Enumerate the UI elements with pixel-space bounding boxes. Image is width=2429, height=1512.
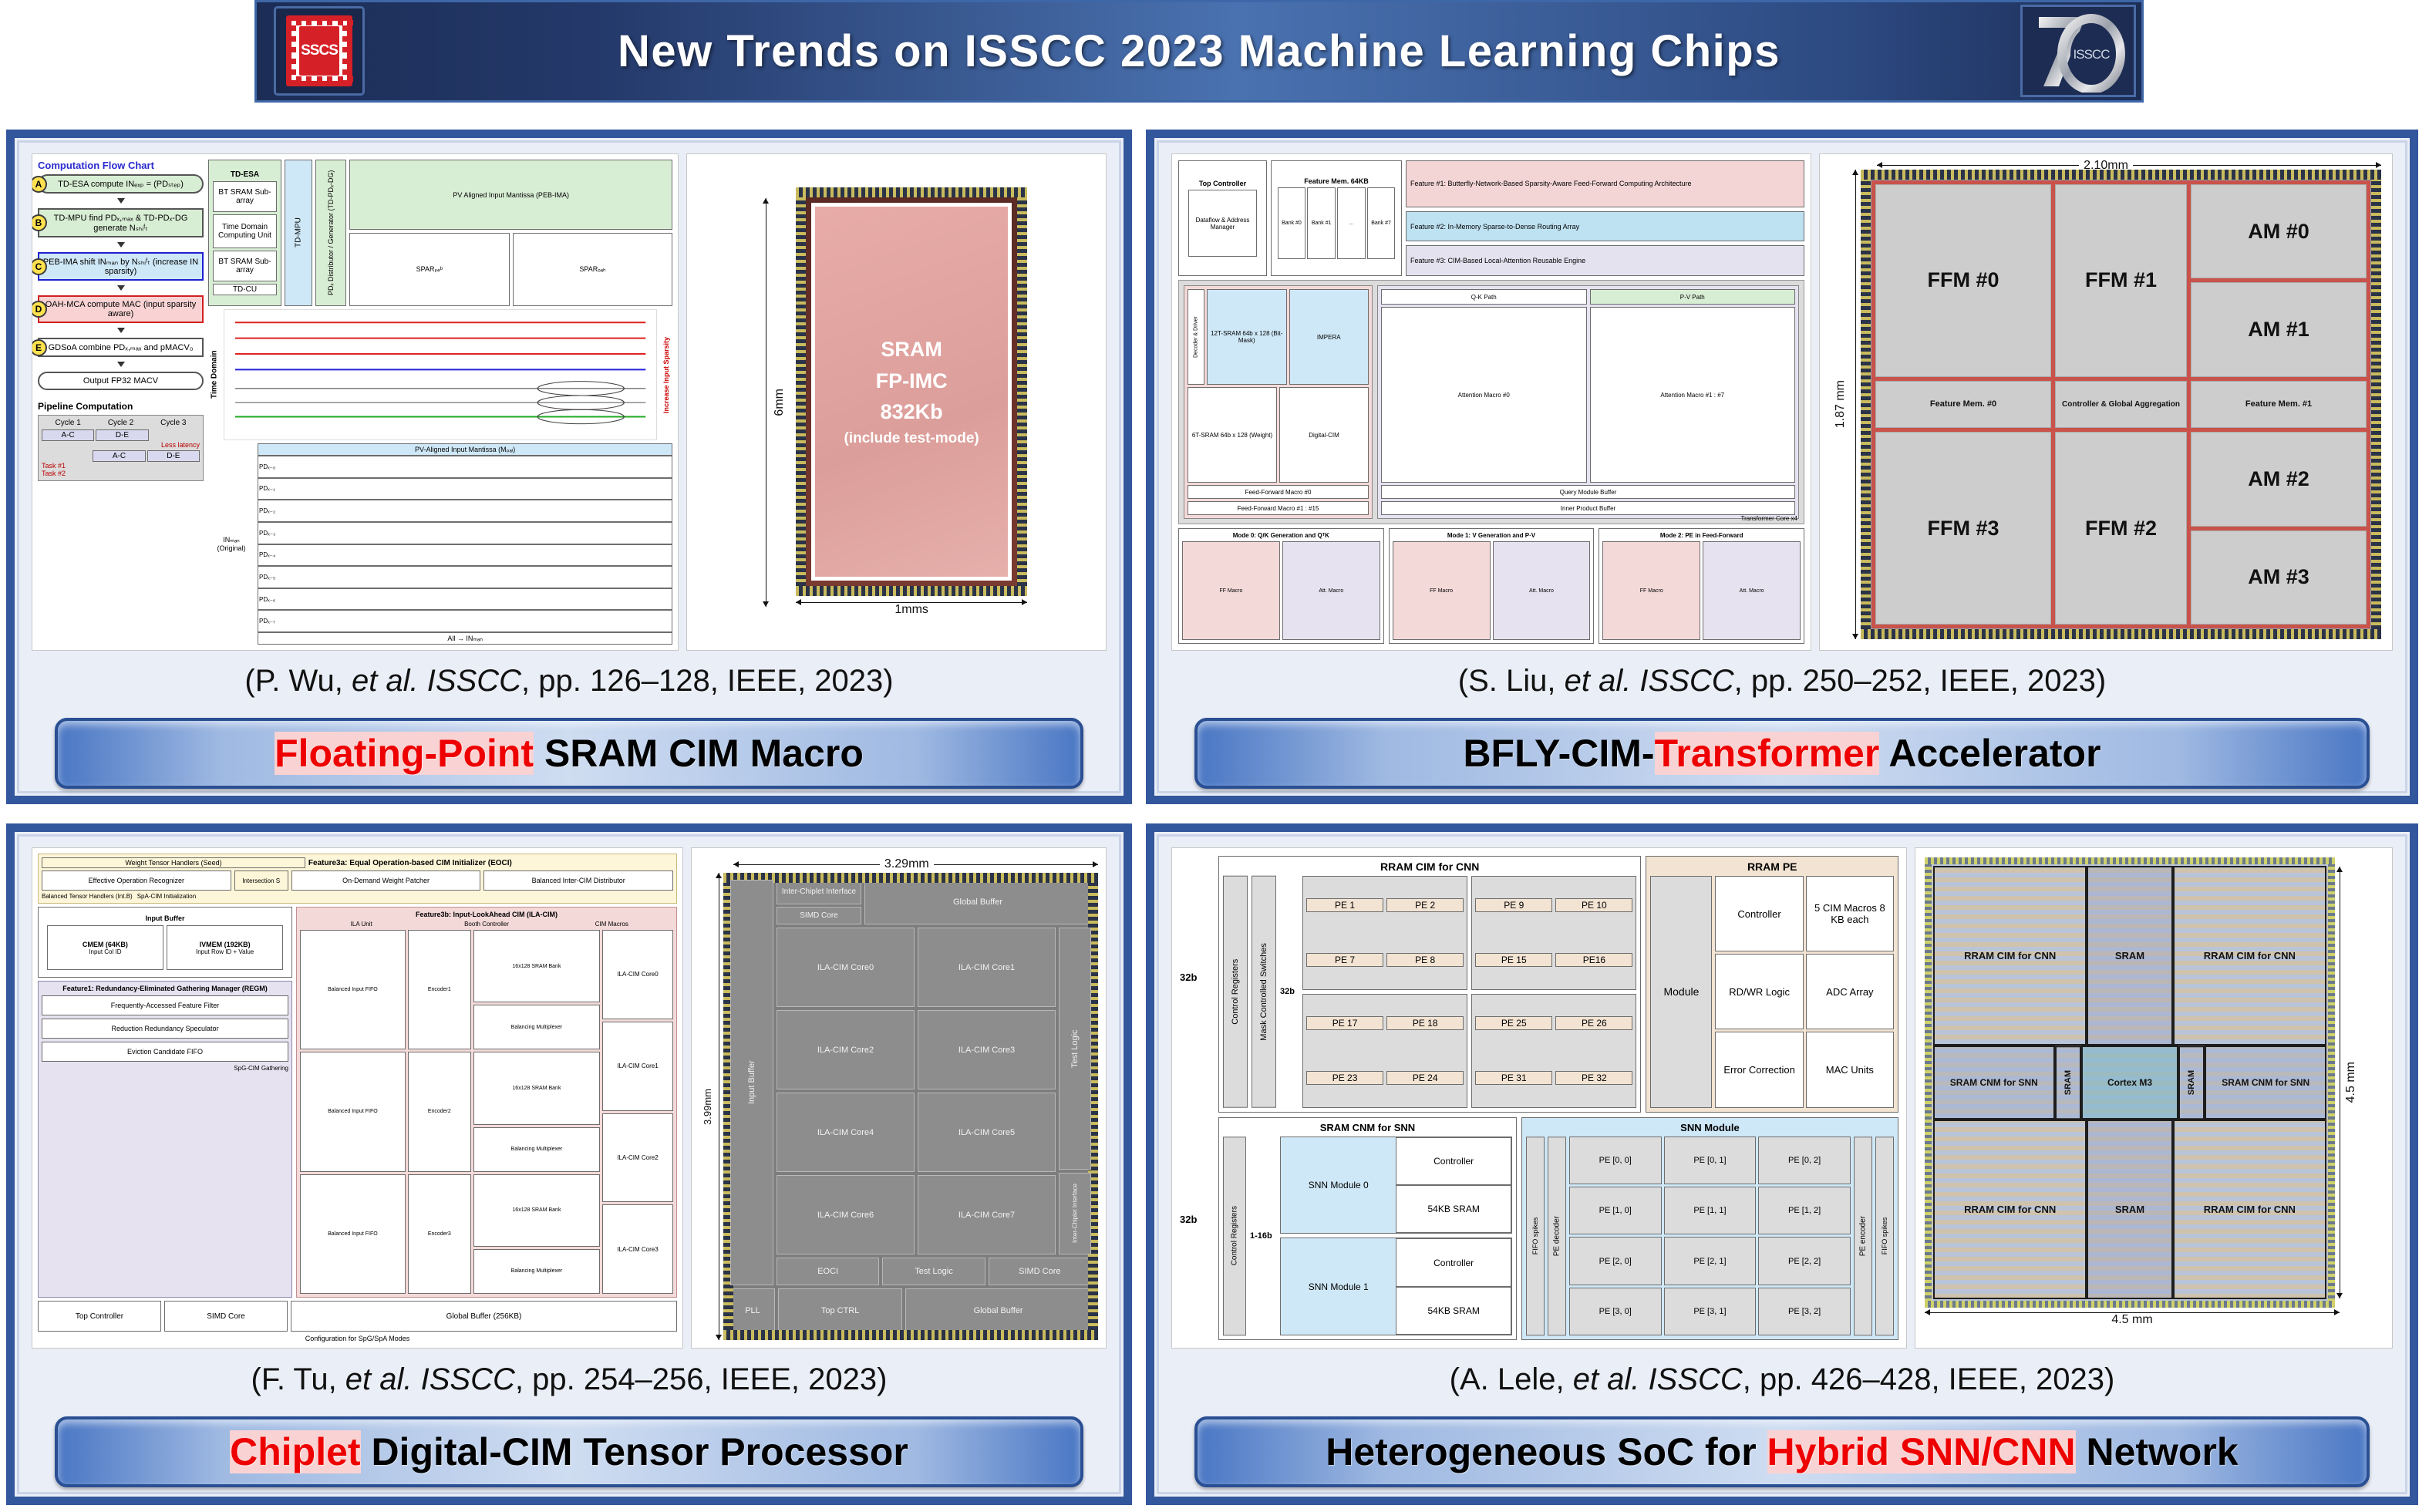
pe-cell: PE 9	[1475, 898, 1552, 912]
pipeline-cell-4: D-E	[147, 450, 200, 462]
spg-cim-gathering-label: SpG-CIM Gathering	[42, 1065, 288, 1072]
snn-pe-cell: PE [1, 0]	[1569, 1187, 1662, 1234]
mode-0-block: Mode 0: Q/K Generation and QᵀK FF Macro …	[1178, 528, 1384, 644]
feature-filter-block: Frequently-Accessed Feature Filter	[42, 995, 288, 1015]
sscs-logo-text: SSCS	[299, 26, 339, 76]
ff-macro-mode0: FF Macro	[1182, 541, 1280, 640]
die-block-rram-cim-bl: RRAM CIM for CNN	[1933, 1120, 2087, 1299]
table-row: PDₓ₋₃	[258, 522, 672, 544]
pipeline-cycle-3: Cycle 3	[160, 419, 186, 427]
feature-1-banner: Feature #1: Butterfly-Network-Based Spar…	[1406, 160, 1804, 207]
sram-bank-3: 16x128 SRAM Bank	[473, 1174, 600, 1247]
die-image: RRAM CIM for CNN SRAM RRAM CIM for CNN S…	[1925, 857, 2335, 1308]
table-row: PDₓ₋₀	[258, 456, 672, 478]
table-left-header: INₘₐₙ (Original)	[208, 443, 254, 645]
pipeline-cell-2: D-E	[96, 429, 148, 441]
soc-architecture-diagram: 32b 32b RRAM CIM for CNN Control Registe…	[1171, 847, 1907, 1349]
caption-red-part: Chiplet	[230, 1430, 360, 1473]
die-block-rram-cim-br: RRAM CIM for CNN	[2173, 1120, 2326, 1299]
pe-cell: PE 31	[1475, 1071, 1552, 1085]
die-block-input-buffer: Input Buffer	[730, 880, 773, 1285]
die-block-inter-chiplet-2: Inter-Chiplet Interface	[1059, 1173, 1091, 1254]
att-macro-mode2: Att. Macro	[1703, 541, 1801, 640]
die-height-label: 1.87 mm	[1834, 380, 1848, 428]
table-row: PDₓ₋₁	[258, 478, 672, 500]
pe-cell: PE 24	[1386, 1071, 1464, 1085]
die-height-label: 3.99mm	[702, 1089, 713, 1125]
snn-module-block: SNN Module FIFO spikes PE decoder PE [0,…	[1521, 1117, 1898, 1340]
mode-row: Mode 0: Q/K Generation and QᵀK FF Macro …	[1178, 528, 1804, 644]
feature-mem-block: Feature Mem. 64KB Bank #0 Bank #1 … Bank…	[1271, 160, 1402, 276]
regm-block: Feature1: Redundancy-Eliminated Gatherin…	[38, 981, 292, 1298]
feature-mem-label: Feature Mem. 64KB	[1304, 177, 1369, 185]
snn-pe-cell: PE [1, 1]	[1664, 1187, 1757, 1234]
page-title: New Trends on ISSCC 2023 Machine Learnin…	[618, 25, 1780, 77]
flow-step-output: Output FP32 MACV	[83, 376, 158, 386]
snn-module-0-sram: 54KB SRAM	[1396, 1185, 1511, 1233]
query-module-buffer: Query Module Buffer	[1381, 485, 1795, 499]
caption-red-part: Transformer	[1655, 732, 1880, 775]
pe-cell: PE 15	[1475, 953, 1552, 967]
caption-black-pre: Heterogeneous SoC for	[1326, 1430, 1767, 1473]
citation-top-right: (S. Liu, et al. ISSCC, pp. 250–252, IEEE…	[1159, 664, 2405, 699]
snn-module-1-controller: Controller	[1396, 1238, 1511, 1286]
flow-step-c: PEB-IMA shift INₘₐₙ by Nₛₕᵢᶠₜ (increase …	[41, 257, 200, 276]
flowchart-title: Computation Flow Chart	[38, 160, 204, 171]
table-row: PDₓ₋₆	[258, 588, 672, 611]
pipeline-cell-1: A-C	[42, 429, 94, 441]
transformer-core-block: Decoder & Driver 12T-SRAM 64b x 128 (Bit…	[1178, 280, 1804, 524]
feature-2-banner: Feature #2: In-Memory Sparse-to-Dense Ro…	[1406, 211, 1804, 242]
caption-text: Chiplet Digital-CIM Tensor Processor	[230, 1429, 908, 1474]
figure-top-left: Computation Flow Chart ATD-ESA compute I…	[32, 153, 1107, 651]
bus-label-32b-top: 32b	[1280, 876, 1299, 1108]
die-image: FFM #0 AM #0 FFM #1 AM #1 Feature Mem. #…	[1861, 170, 2381, 639]
snn-pe-cell: PE [1, 2]	[1758, 1187, 1851, 1234]
pv-path-block: Q-K Path	[1381, 289, 1587, 305]
snn-control-registers: Control Registers	[1223, 1137, 1246, 1335]
snn-pe-cell: PE [2, 2]	[1758, 1237, 1851, 1285]
panel-floating-point-sram-cim: Computation Flow Chart ATD-ESA compute I…	[6, 130, 1132, 804]
ff-macro-mode1: FF Macro	[1393, 541, 1491, 640]
attention-macro-group: Q-K Path Attention Macro #0 P-V Path Att…	[1377, 285, 1799, 519]
citation-pre: (A. Lele,	[1450, 1362, 1573, 1396]
die-block-cortex-m3: Cortex M3	[2081, 1046, 2179, 1120]
ivmem-label: IVMEM (192KB)	[200, 941, 251, 948]
die-image: SRAM FP-IMC 832Kb (include test-mode)	[796, 187, 1027, 596]
snn-pe-cell: PE [2, 1]	[1664, 1237, 1757, 1285]
caption-text: Heterogeneous SoC for Hybrid SNN/CNN Net…	[1326, 1429, 2239, 1474]
td-esa-label: TD-ESA	[231, 170, 259, 179]
rram-pe-module-label: Module	[1650, 876, 1712, 1108]
att-macro-mode0: Att. Macro	[1282, 541, 1380, 640]
ila-cim-core2: ILA-CIM Core2	[602, 1113, 673, 1203]
ila-cim-core0: ILA-CIM Core0	[602, 930, 673, 1019]
bank-7: Bank #7	[1367, 187, 1396, 259]
pipeline-chart: Cycle 1 Cycle 2 Cycle 3 A-C D-E Less lat…	[38, 415, 204, 481]
pe-cell: PE16	[1555, 953, 1632, 967]
snn-module-title: SNN Module	[1526, 1122, 1894, 1133]
td-mpu-block: TD-MPU	[285, 160, 312, 306]
bank-ellipsis: …	[1337, 187, 1366, 259]
dataflow-address-manager: Dataflow & Address Manager	[1188, 190, 1257, 258]
pipeline-cycle-1: Cycle 1	[55, 419, 80, 427]
die-label-line-3: 832Kb	[844, 396, 979, 428]
rram-cim-title: RRAM CIM for CNN	[1223, 860, 1636, 873]
pipeline-task-2: Task #2	[42, 470, 200, 477]
figure-bottom-left: Weight Tensor Handlers (Seed) Feature3a:…	[32, 847, 1107, 1349]
input-sparsity-axis-label: Increase Input Sparsity	[660, 309, 672, 440]
rram-pe-error-correction: Error Correction	[1715, 1032, 1803, 1107]
flow-step-d: OAH-MCA compute MAC (input sparsity awar…	[41, 300, 200, 318]
caption-black-part: Digital-CIM Tensor Processor	[361, 1430, 908, 1473]
bt-sram-subarray-1: BT SRAM Sub-array	[213, 251, 278, 281]
weight-tensor-handlers: Weight Tensor Handlers (Seed)	[42, 857, 305, 868]
fifo-spikes-right: FIFO spikes	[1875, 1137, 1894, 1335]
caption-banner-heterogeneous-soc[interactable]: Heterogeneous SoC for Hybrid SNN/CNN Net…	[1194, 1416, 2370, 1487]
mode-1-block: Mode 1: V Generation and P·V FF Macro At…	[1389, 528, 1595, 644]
panel-chiplet-digital-cim: Weight Tensor Handlers (Seed) Feature3a:…	[6, 823, 1132, 1505]
snn-pe-cell: PE [2, 0]	[1569, 1237, 1662, 1285]
caption-banner-floating-point[interactable]: Floating-Point SRAM CIM Macro	[55, 718, 1083, 789]
pipeline-task-1: Task #1	[42, 462, 200, 470]
die-height-label: 6mm	[773, 389, 787, 416]
global-buffer-block: Global Buffer (256KB)	[291, 1301, 677, 1332]
snn-pe-cell: PE [3, 0]	[1569, 1288, 1662, 1335]
die-height-label: 4.5 mm	[2344, 1062, 2358, 1103]
input-buffer-block: Input Buffer CMEM (64KB) Input Col ID IV…	[38, 907, 292, 978]
feature-3-banner: Feature #3: CIM-Based Local-Attention Re…	[1406, 245, 1804, 276]
caption-banner-bfly-cim[interactable]: BFLY-CIM-Transformer Accelerator	[1194, 718, 2370, 789]
snn-module-0-label: SNN Module 0	[1281, 1180, 1396, 1190]
pipeline-cycle-2: Cycle 2	[108, 419, 133, 427]
sram-bank-2: 16x128 SRAM Bank	[473, 1052, 600, 1124]
time-domain-axis-label: Time Domain	[208, 309, 221, 440]
die-block-rram-cim-tr: RRAM CIM for CNN	[2173, 866, 2326, 1046]
spar-oah-block: SPARₒₐₕ	[513, 233, 673, 306]
citation-post: , pp. 126–128, IEEE, 2023)	[521, 664, 894, 698]
die-label-line-2: FP-IMC	[844, 365, 979, 397]
mode-0-label: Mode 0: Q/K Generation and QᵀK	[1233, 532, 1329, 539]
soc-die-photo: RRAM CIM for CNN SRAM RRAM CIM for CNN S…	[1915, 847, 2393, 1349]
td-esa-block: TD-ESA BT SRAM Sub-array Time Domain Com…	[208, 160, 281, 306]
ila-cim-core1: ILA-CIM Core1	[602, 1022, 673, 1111]
fifo-spikes-left: FIFO spikes	[1526, 1137, 1545, 1335]
decoder-driver-block: Decoder & Driver	[1188, 289, 1204, 385]
feature-3a-label: Feature3a: Equal Operation-based CIM Ini…	[308, 857, 673, 868]
citation-italic: et al. ISSCC	[345, 1362, 515, 1396]
balanced-input-fifo-2: Balanced Input FIFO	[300, 1174, 406, 1294]
on-demand-weight-patcher: On-Demand Weight Patcher	[291, 870, 481, 891]
rram-pe-title: RRAM PE	[1650, 860, 1894, 873]
citation-bottom-left: (F. Tu, et al. ISSCC, pp. 254–256, IEEE,…	[19, 1362, 1119, 1397]
table-row: PDₓ₋₄	[258, 544, 672, 567]
sram-cnm-for-snn-block: SRAM CNM for SNN Control Registers 1-16b…	[1218, 1117, 1517, 1340]
encoder-2: Encoder2	[408, 1052, 471, 1171]
citation-italic: et al. ISSCC	[1573, 1362, 1743, 1396]
die-block-sram-l: SRAM	[2055, 1046, 2081, 1120]
balanced-inter-cim-distributor: Balanced Inter-CIM Distributor	[483, 870, 673, 891]
citation-pre: (S. Liu,	[1458, 664, 1565, 698]
balancing-mux-3: Balancing Multiplexer	[473, 1249, 600, 1294]
peb-ima-block: PV Aligned Input Mantissa (PEB-IMA)	[349, 160, 672, 230]
rram-pe-controller: Controller	[1715, 876, 1803, 951]
bus-label-32b-2: 32b	[1180, 1214, 1214, 1225]
fp-imc-architecture-diagram: Computation Flow Chart ATD-ESA compute I…	[32, 153, 679, 651]
bank-0: Bank #0	[1278, 187, 1306, 259]
pe-decoder: PE decoder	[1548, 1137, 1566, 1335]
citation-italic: et al. ISSCC	[352, 664, 521, 698]
pe-cell: PE 2	[1386, 898, 1464, 912]
rram-pe-cim-macros: 5 CIM Macros 8 KB each	[1806, 876, 1894, 951]
panel-bfly-cim-transformer: Top Controller Dataflow & Address Manage…	[1146, 130, 2418, 804]
svg-text:ISSCC: ISSCC	[2074, 47, 2111, 62]
pdx-distributor-block: PDₓ Distributor / Generator (TD-PDₓ-DG)	[315, 160, 346, 306]
caption-black-pre: BFLY-CIM-	[1463, 732, 1654, 775]
spar-peb-block: SPARₚₑᵇ	[349, 233, 510, 306]
booth-controller-label: Booth Controller	[425, 921, 547, 928]
snn-pe-cell: PE [3, 1]	[1664, 1288, 1757, 1335]
table-footer: All → INₘₐₙ	[258, 632, 672, 645]
pe-cell: PE 23	[1306, 1071, 1383, 1085]
caption-text: Floating-Point SRAM CIM Macro	[275, 731, 864, 776]
pe-cell: PE 8	[1386, 953, 1464, 967]
top-controller-label: Top Controller	[1199, 180, 1246, 187]
citation-post: , pp. 426–428, IEEE, 2023)	[1743, 1362, 2115, 1396]
top-controller-block: Top Controller	[38, 1301, 161, 1332]
12t-sram-block: 12T-SRAM 64b x 128 (Bit-Mask)	[1207, 289, 1287, 385]
die-block-rram-cim-tl: RRAM CIM for CNN	[1933, 866, 2087, 1046]
citation-pre: (F. Tu,	[251, 1362, 345, 1396]
bt-sram-subarray-0: BT SRAM Sub-array	[213, 181, 278, 212]
ff-macro-0-label: Feed-Forward Macro #0	[1188, 485, 1369, 499]
die-width-label: 3.29mm	[880, 857, 934, 871]
rram-pe-adc-array: ADC Array	[1806, 954, 1894, 1029]
pipeline-latency-label: Less latency	[42, 441, 200, 449]
pe-cell: PE 18	[1386, 1016, 1464, 1030]
effective-op-recognizer: Effective Operation Recognizer	[42, 870, 231, 891]
pipeline-title: Pipeline Computation	[38, 401, 204, 412]
timing-waveform-area: Time Domain	[208, 309, 672, 440]
ivmem-sub: Input Row ID + Value	[196, 948, 254, 955]
attention-macro-1: Attention Macro #1 : #7	[1590, 307, 1796, 483]
isscc-70th-anniversary-logo: ISSCC	[2020, 5, 2136, 97]
flow-step-b: TD-MPU find PDₓ,ₘₐₓ & TD-PDₓ-DG generate…	[41, 213, 200, 233]
caption-red-part: Hybrid SNN/CNN	[1767, 1430, 2076, 1473]
pipeline-cell-3: A-C	[93, 450, 145, 462]
bottom-blocks-row: Top Controller SIMD Core Global Buffer (…	[38, 1301, 677, 1332]
mask-controlled-switches-block: Mask Controlled Switches	[1252, 876, 1276, 1108]
cmem-sub: Input Col ID	[89, 948, 121, 955]
ff-macro-mode2: FF Macro	[1602, 541, 1700, 640]
poster-root: New Trends on ISSCC 2023 Machine Learnin…	[0, 0, 2429, 1512]
snn-module-0-controller: Controller	[1396, 1137, 1511, 1185]
table-row: PDₓ₋₇	[258, 610, 672, 632]
att-macro-mode1: Att. Macro	[1493, 541, 1591, 640]
table-row: PDₓ₋₂	[258, 500, 672, 522]
encoder-3: Encoder3	[408, 1174, 471, 1294]
sram-bank-1: 16x128 SRAM Bank	[473, 930, 600, 1002]
attention-macro-0: Attention Macro #0	[1381, 307, 1587, 483]
time-domain-compute-unit: Time Domain Computing Unit	[213, 214, 278, 248]
pe-cell: PE 26	[1555, 1016, 1632, 1030]
table-header: PV-Aligned Input Mantissa (Mₚₐₗ)	[258, 443, 672, 456]
feed-forward-macro-group: Decoder & Driver 12T-SRAM 64b x 128 (Bit…	[1184, 285, 1373, 519]
pe-cell: PE 17	[1306, 1016, 1383, 1030]
snn-pe-cell: PE [0, 2]	[1758, 1137, 1851, 1184]
die-block-test-logic: Test Logic	[1059, 928, 1091, 1170]
digital-cim-block: Digital-CIM	[1279, 387, 1369, 483]
td-cu-block: TD-CU	[213, 284, 278, 295]
ila-cim-core3: ILA-CIM Core3	[602, 1204, 673, 1294]
snn-module-1-label: SNN Module 1	[1281, 1281, 1396, 1292]
rram-pe-block: RRAM PE Module Controller 5 CIM Macros 8…	[1646, 856, 1898, 1113]
bfly-cim-architecture-diagram: Top Controller Dataflow & Address Manage…	[1171, 153, 1811, 651]
inner-product-buffer: Inner Product Buffer	[1381, 501, 1795, 515]
poster-header: New Trends on ISSCC 2023 Machine Learnin…	[254, 0, 2144, 103]
ila-unit-label: ILA Unit	[300, 921, 423, 928]
snn-module-1-sram: 54KB SRAM	[1396, 1287, 1511, 1335]
ila-cim-block: Feature3b: Input-LookAhead CIM (ILA-CIM)…	[296, 907, 677, 1298]
citation-post: , pp. 250–252, IEEE, 2023)	[1734, 664, 2107, 698]
die-block-sram-cnm-right: SRAM CNM for SNN	[2205, 1046, 2326, 1120]
rram-pe-rdwr-logic: RD/WR Logic	[1715, 954, 1803, 1029]
die-label-line-4: (include test-mode)	[844, 428, 979, 450]
snn-pe-cell: PE [0, 0]	[1569, 1137, 1662, 1184]
eviction-fifo-block: Eviction Candidate FIFO	[42, 1042, 288, 1062]
intersection-block: Intersection S	[234, 870, 288, 891]
eoci-region: Weight Tensor Handlers (Seed) Feature3a:…	[38, 854, 677, 904]
figure-top-right: Top Controller Dataflow & Address Manage…	[1171, 153, 2393, 651]
bus-label-1-16b: 1-16b	[1250, 1137, 1276, 1335]
die-width-label: 4.5 mm	[2111, 1313, 2152, 1327]
die-block-sram-bot: SRAM	[2087, 1120, 2172, 1299]
pe-encoder: PE encoder	[1854, 1137, 1872, 1335]
control-registers-block: Control Registers	[1223, 876, 1248, 1108]
sscs-society-logo: SSCS	[274, 6, 365, 96]
balancing-mux-1: Balancing Multiplexer	[473, 1005, 600, 1049]
6t-sram-block: 6T-SRAM 64b x 128 (Weight)	[1188, 387, 1277, 483]
caption-black-part: SRAM CIM Macro	[534, 732, 864, 775]
pv-aligned-mantissa-table: INₘₐₙ (Original) PV-Aligned Input Mantis…	[208, 443, 672, 645]
balanced-input-fifo-1: Balanced Input FIFO	[300, 1052, 406, 1171]
die-block-sram-cnm-left: SRAM CNM for SNN	[1933, 1046, 2055, 1120]
bank-1: Bank #1	[1307, 187, 1336, 259]
pe-cell: PE 32	[1555, 1071, 1632, 1085]
citation-italic: et al. ISSCC	[1565, 664, 1734, 698]
encoder-1: Encoder1	[408, 930, 471, 1049]
mode-2-label: Mode 2: PE in Feed-Forward	[1660, 532, 1743, 539]
flow-step-a: TD-ESA compute INₑₓₚ = (PDₛₜₑₚ)	[58, 179, 184, 189]
pe-cell: PE 7	[1306, 953, 1383, 967]
seventy-icon: ISSCC	[2028, 9, 2128, 93]
figure-footer-label: Configuration for SpG/SpA Modes	[38, 1335, 677, 1342]
citation-bottom-right: (A. Lele, et al. ISSCC, pp. 426–428, IEE…	[1159, 1362, 2405, 1397]
bus-label-32b-1: 32b	[1180, 972, 1214, 983]
cim-macros-label: CIM Macros	[551, 921, 673, 928]
chiplet-architecture-diagram: Weight Tensor Handlers (Seed) Feature3a:…	[32, 847, 683, 1349]
snn-pe-cell: PE [0, 1]	[1664, 1137, 1757, 1184]
caption-black-post: Network	[2076, 1430, 2239, 1473]
pe-cell: PE 1	[1306, 898, 1383, 912]
mode-2-block: Mode 2: PE in Feed-Forward FF Macro Att.…	[1599, 528, 1804, 644]
transformer-core-label: Transformer Core x4	[1741, 515, 1798, 522]
balanced-tensor-handlers-label: Balanced Tensor Handlers (Int.B)	[42, 893, 133, 900]
cmem-label: CMEM (64KB)	[83, 941, 128, 948]
snn-pe-cell: PE [3, 2]	[1758, 1288, 1851, 1335]
input-buffer-label: Input Buffer	[146, 914, 185, 922]
die-image: Input Buffer Inter-Chiplet Interface SIM…	[723, 873, 1098, 1340]
ff-macro-1-label: Feed-Forward Macro #1 : #15	[1188, 501, 1369, 515]
sram-cnm-title: SRAM CNM for SNN	[1223, 1122, 1512, 1133]
spa-cim-init-label: SpA-CIM Initialization	[137, 893, 196, 900]
citation-post: , pp. 254–256, IEEE, 2023)	[515, 1362, 888, 1396]
fp-imc-die-photo: 6mm SRAM FP-IMC 832Kb (include test-mode…	[686, 153, 1107, 651]
rram-cim-for-cnn-block: RRAM CIM for CNN Control Registers Mask …	[1218, 856, 1641, 1113]
rram-pe-mac-units: MAC Units	[1806, 1032, 1894, 1107]
die-block-sram-r: SRAM	[2178, 1046, 2205, 1120]
waveform-svg	[224, 310, 656, 439]
impera-block: IMPERA	[1289, 289, 1369, 385]
caption-banner-chiplet[interactable]: Chiplet Digital-CIM Tensor Processor	[55, 1416, 1083, 1487]
bfly-cim-die-photo: 2.10mm 1.87 mm FFM #0 AM #0 FFM #1 AM #1	[1819, 153, 2393, 651]
caption-text: BFLY-CIM-Transformer Accelerator	[1463, 731, 2101, 776]
balanced-input-fifo-0: Balanced Input FIFO	[300, 930, 406, 1049]
panel-heterogeneous-soc: 32b 32b RRAM CIM for CNN Control Registe…	[1146, 823, 2418, 1505]
top-controller-block: Top Controller Dataflow & Address Manage…	[1178, 160, 1267, 276]
qk-path-block: P-V Path	[1590, 289, 1796, 305]
feature-1-label: Feature1: Redundancy-Eliminated Gatherin…	[42, 985, 288, 992]
balancing-mux-2: Balancing Multiplexer	[473, 1127, 600, 1172]
mode-1-label: Mode 1: V Generation and P·V	[1447, 532, 1535, 539]
figure-bottom-right: 32b 32b RRAM CIM for CNN Control Registe…	[1171, 847, 2393, 1349]
die-label-line-1: SRAM	[844, 334, 979, 365]
caption-red-part: Floating-Point	[275, 732, 534, 775]
reduction-speculator-block: Reduction Redundancy Speculator	[42, 1019, 288, 1039]
pe-cell: PE 10	[1555, 898, 1632, 912]
citation-top-left: (P. Wu, et al. ISSCC, pp. 126–128, IEEE,…	[19, 664, 1119, 699]
caption-black-post: Accelerator	[1879, 732, 2101, 775]
chiplet-die-photo: 3.29mm 3.99mm Input Buffer	[691, 847, 1107, 1349]
citation-pre: (P. Wu,	[244, 664, 352, 698]
pe-cell: PE 25	[1475, 1016, 1552, 1030]
flow-step-e: GDSoA combine PDₓ,ₘₐₓ and pMACV₀	[49, 342, 194, 352]
table-row: PDₓ₋₅	[258, 566, 672, 588]
feature-3b-label: Feature3b: Input-LookAhead CIM (ILA-CIM)	[300, 911, 673, 918]
die-block-sram-top: SRAM	[2087, 866, 2172, 1046]
simd-core-block: SIMD Core	[164, 1301, 288, 1332]
die-width-label: 1mms	[894, 603, 928, 617]
